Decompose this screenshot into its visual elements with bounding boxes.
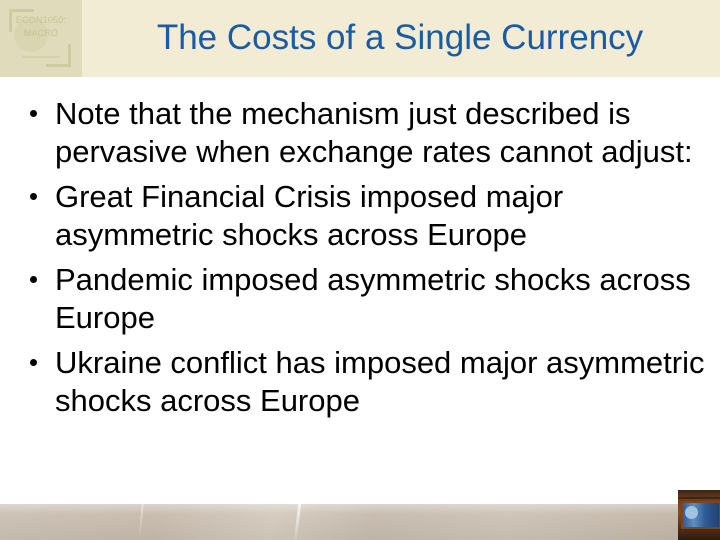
- bullet-list-item: Note that the mechanism just described i…: [0, 95, 720, 171]
- bullet-text: Ukraine conflict has imposed major asymm…: [55, 344, 706, 420]
- logo-underline-rule: [22, 56, 60, 58]
- photo-strip-seam-left: [138, 504, 143, 540]
- thumbnail-shelf-line: [678, 497, 720, 499]
- bullet-dot-icon: [30, 110, 37, 117]
- bullet-dot-icon: [30, 359, 37, 366]
- corner-photo-thumbnail: [678, 490, 720, 540]
- presentation-slide: ECON1050: MACRO The Costs of a Single Cu…: [0, 0, 720, 540]
- bullet-dot-icon: [30, 193, 37, 200]
- bullet-text: Great Financial Crisis imposed major asy…: [55, 178, 706, 254]
- thumbnail-disc-shape: [685, 506, 698, 519]
- slide-body: Note that the mechanism just described i…: [0, 95, 720, 427]
- course-logo-text: ECON1050: MACRO: [0, 14, 82, 40]
- course-logo-line2: MACRO: [0, 27, 82, 40]
- slide-title: The Costs of a Single Currency: [88, 16, 712, 60]
- floor-photo-strip: [0, 504, 720, 540]
- bullet-list-item: Ukraine conflict has imposed major asymm…: [0, 344, 720, 420]
- bullet-text: Note that the mechanism just described i…: [55, 95, 706, 171]
- bullet-list-item: Pandemic imposed asymmetric shocks acros…: [0, 261, 720, 337]
- bullet-list-item: Great Financial Crisis imposed major asy…: [0, 178, 720, 254]
- photo-strip-seam-center: [294, 504, 301, 540]
- course-logo-line1: ECON1050:: [16, 15, 66, 25]
- bullet-dot-icon: [30, 276, 37, 283]
- bullet-text: Pandemic imposed asymmetric shocks acros…: [55, 261, 706, 337]
- course-logo: ECON1050: MACRO: [0, 0, 82, 77]
